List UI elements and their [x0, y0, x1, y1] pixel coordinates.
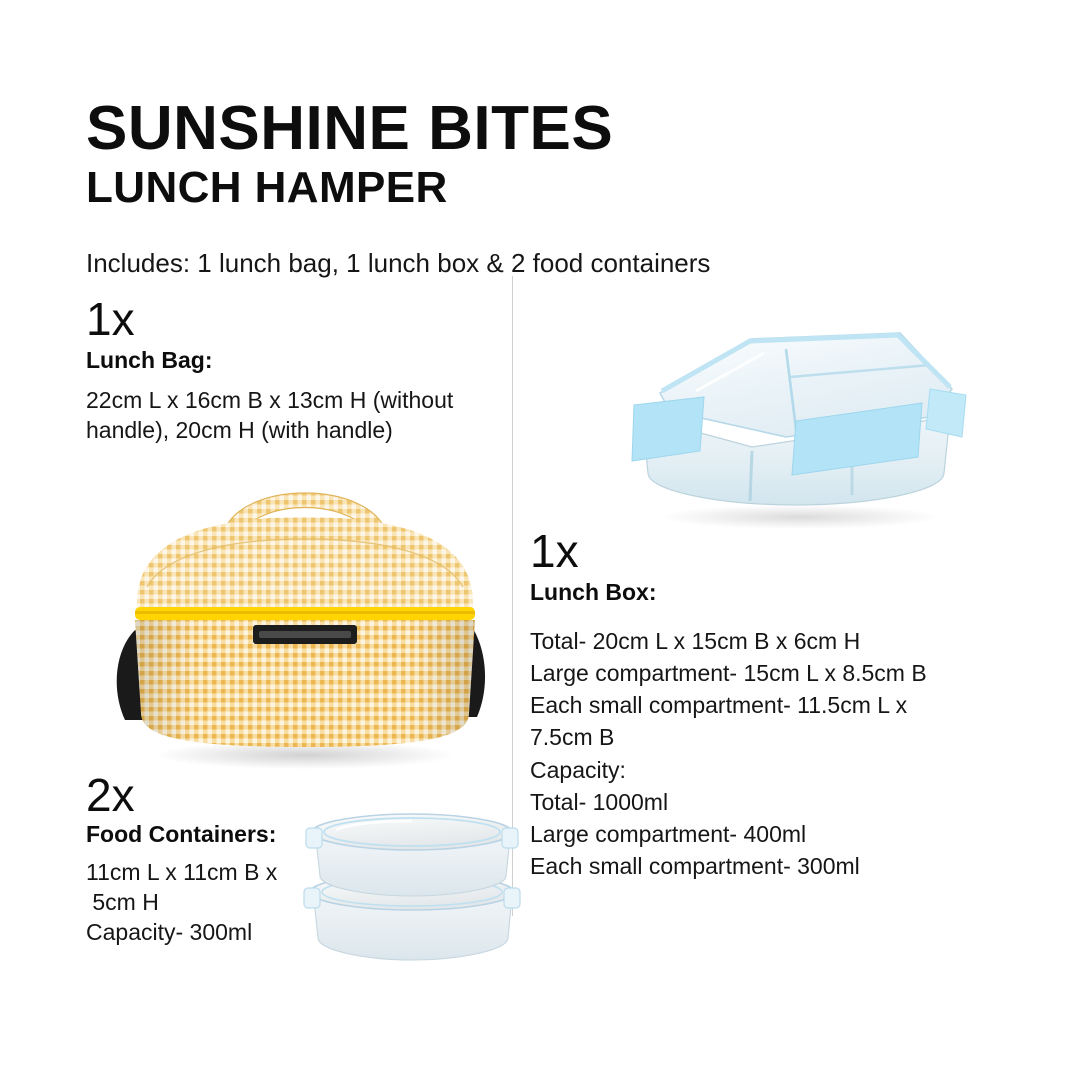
- lunch-box-image: [600, 305, 990, 540]
- lunch-box-spec-4: 7.5cm B: [530, 721, 1010, 753]
- lunch-box-shadow: [660, 505, 940, 529]
- food-container-top: [306, 814, 518, 896]
- lunch-box-spec-5: Capacity:: [530, 754, 1010, 786]
- page-subtitle: LUNCH HAMPER: [86, 166, 448, 210]
- lunch-bag-spec: 22cm L x 16cm B x 13cm H (without handle…: [86, 385, 501, 446]
- bag-lid: [137, 517, 473, 615]
- lunch-bag-info: 1x Lunch Bag: 22cm L x 16cm B x 13cm H (…: [86, 296, 506, 445]
- lunch-bag-label: Lunch Bag:: [86, 346, 506, 375]
- page-title: SUNSHINE BITES: [86, 98, 613, 160]
- container-clip-bottom-left: [304, 888, 320, 908]
- food-containers-image: [300, 788, 525, 973]
- lunch-box-info: 1x Lunch Box: Total- 20cm L x 15cm B x 6…: [530, 528, 1010, 882]
- lunch-box-spec-8: Each small compartment- 300ml: [530, 850, 1010, 882]
- container-clip-top-right: [502, 828, 518, 848]
- includes-line: Includes: 1 lunch bag, 1 lunch box & 2 f…: [86, 248, 710, 279]
- base-divider-vertical: [750, 451, 752, 501]
- container-clip-top-left: [306, 828, 322, 848]
- bag-logo-text: [259, 631, 351, 638]
- container-clip-bottom-right: [504, 888, 520, 908]
- lunch-box-spec-2: Large compartment- 15cm L x 8.5cm B: [530, 657, 1010, 689]
- lunch-bag-image: [95, 455, 515, 780]
- lunch-bag-quantity: 1x: [86, 296, 506, 342]
- lunch-box-spec-6: Total- 1000ml: [530, 786, 1010, 818]
- product-infographic: SUNSHINE BITES LUNCH HAMPER Includes: 1 …: [0, 0, 1080, 1080]
- lunch-box-clip-right: [926, 389, 966, 437]
- lunch-box-spec-1: Total- 20cm L x 15cm B x 6cm H: [530, 625, 1010, 657]
- lunch-box-label: Lunch Box:: [530, 578, 1010, 607]
- bag-zipper-teeth: [135, 611, 475, 614]
- lunch-box-spec-3: Each small compartment- 11.5cm L x: [530, 689, 1010, 721]
- lunch-box-spec-7: Large compartment- 400ml: [530, 818, 1010, 850]
- lunch-box-clip-left: [632, 397, 704, 461]
- lunch-box-quantity: 1x: [530, 528, 1010, 574]
